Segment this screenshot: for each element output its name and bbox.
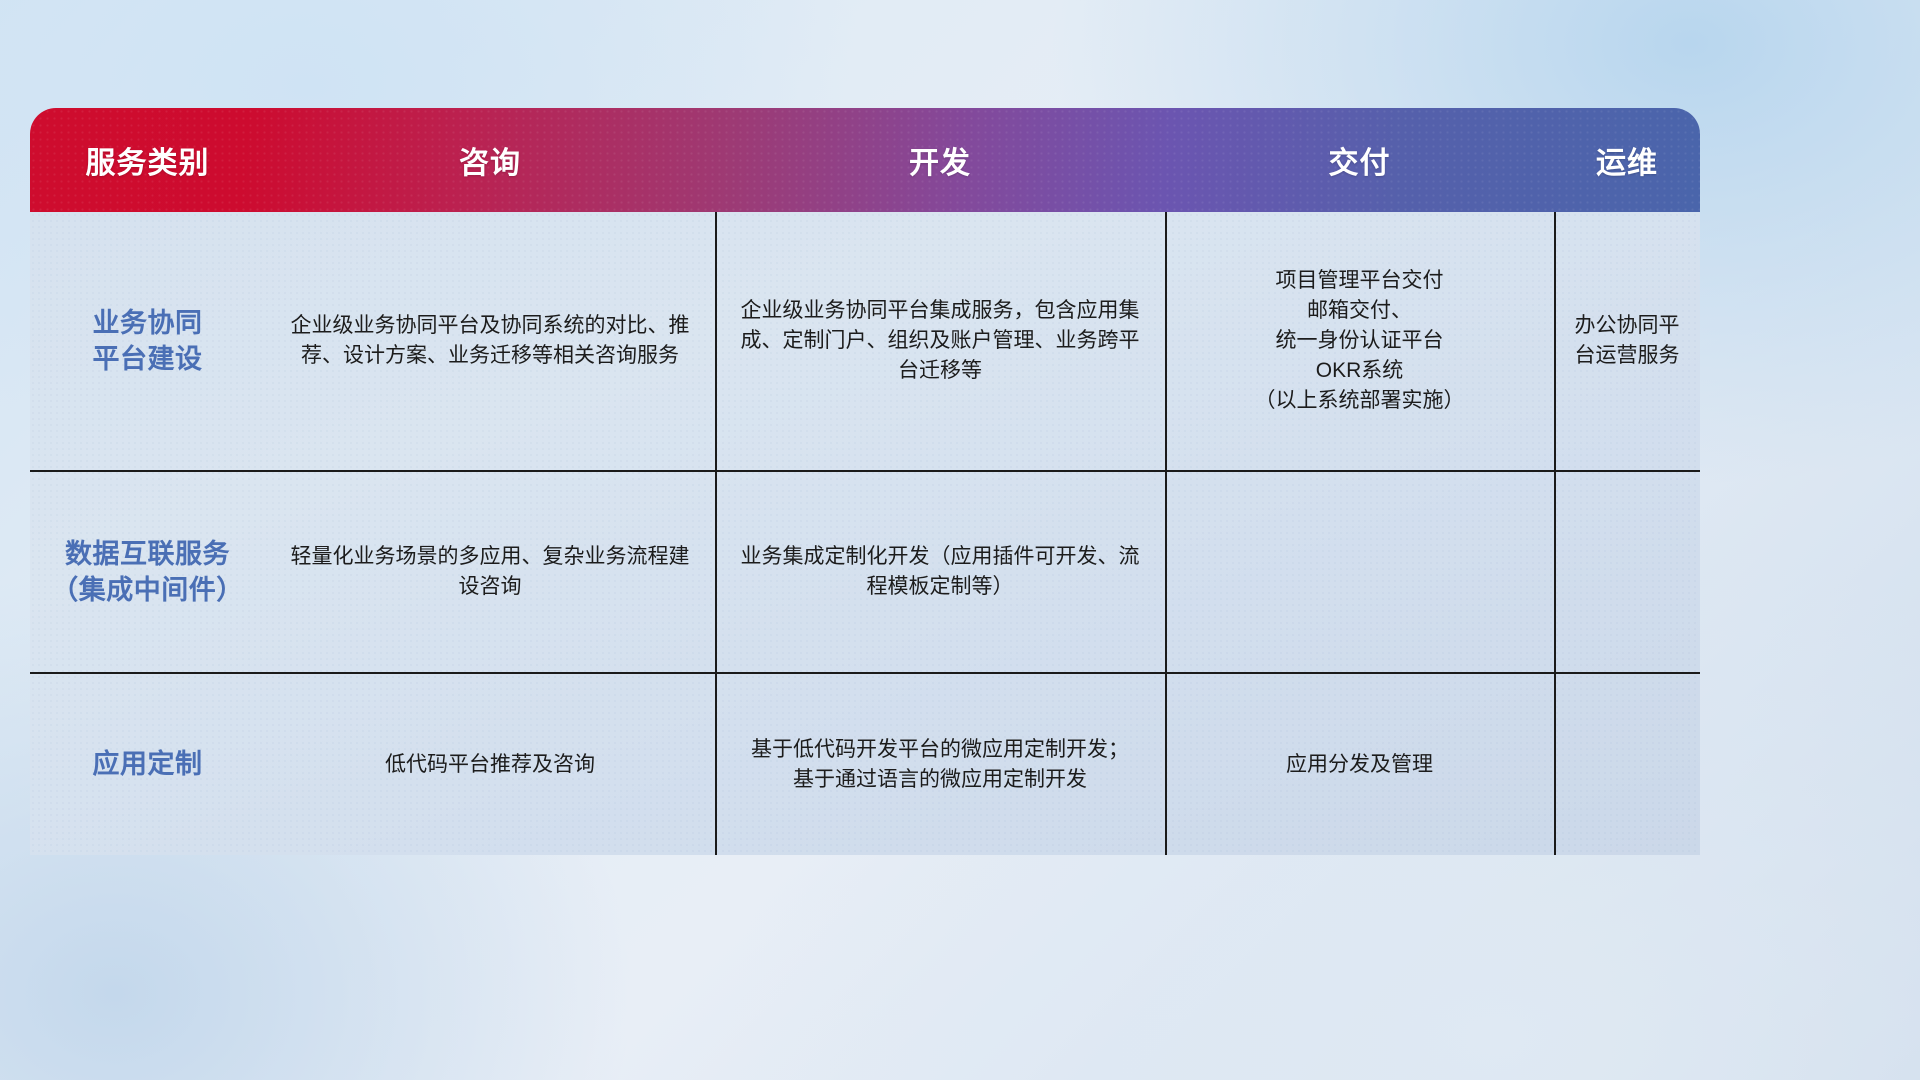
cell-r3-consulting: 低代码平台推荐及咨询 [265,674,715,855]
cell-r2-delivery [1165,472,1554,672]
row-label-data-interconnect: 数据互联服务 （集成中间件） [30,472,265,672]
column-header-development: 开发 [715,138,1165,182]
column-header-operations: 运维 [1554,138,1700,182]
cell-line: 基于通过语言的微应用定制开发 [751,765,1129,795]
row-label-app-customization: 应用定制 [30,674,265,855]
cell-r1-consulting: 企业级业务协同平台及协同系统的对比、推荐、设计方案、业务迁移等相关咨询服务 [265,212,715,470]
cell-line: （以上系统部署实施） [1255,386,1465,416]
table-row: 应用定制 低代码平台推荐及咨询 基于低代码开发平台的微应用定制开发； 基于通过语… [30,674,1700,855]
cell-r2-consulting: 轻量化业务场景的多应用、复杂业务流程建设咨询 [265,472,715,672]
row-label-line: 数据互联服务 [51,536,244,572]
row-label-business-collaboration: 业务协同 平台建设 [30,212,265,470]
cell-r3-delivery: 应用分发及管理 [1165,674,1554,855]
table-header-row: 服务类别 咨询 开发 交付 运维 [30,108,1700,212]
cell-line: 统一身份认证平台 [1255,326,1465,356]
cell-r2-operations [1554,472,1700,672]
row-label-line: 平台建设 [93,341,203,377]
table-body: 业务协同 平台建设 企业级业务协同平台及协同系统的对比、推荐、设计方案、业务迁移… [30,212,1700,855]
cell-line: 基于低代码开发平台的微应用定制开发； [751,735,1129,765]
cell-line: 项目管理平台交付 [1255,266,1465,296]
row-label-line: 应用定制 [93,746,203,782]
column-header-delivery: 交付 [1165,138,1554,182]
table-row: 数据互联服务 （集成中间件） 轻量化业务场景的多应用、复杂业务流程建设咨询 业务… [30,472,1700,674]
cell-r1-operations: 办公协同平台运营服务 [1554,212,1700,470]
service-matrix-table: 服务类别 咨询 开发 交付 运维 业务协同 平台建设 企业级业务协同平台及协同系… [30,108,1700,855]
column-header-category: 服务类别 [30,138,265,182]
table-row: 业务协同 平台建设 企业级业务协同平台及协同系统的对比、推荐、设计方案、业务迁移… [30,212,1700,472]
cell-r1-delivery: 项目管理平台交付 邮箱交付、 统一身份认证平台 OKR系统 （以上系统部署实施） [1165,212,1554,470]
row-label-line: （集成中间件） [51,572,244,608]
cell-r3-operations [1554,674,1700,855]
cell-line: 邮箱交付、 [1255,296,1465,326]
cell-line: OKR系统 [1255,356,1465,386]
cell-r3-development: 基于低代码开发平台的微应用定制开发； 基于通过语言的微应用定制开发 [715,674,1165,855]
row-label-line: 业务协同 [93,305,203,341]
cell-r1-development: 企业级业务协同平台集成服务，包含应用集成、定制门户、组织及账户管理、业务跨平台迁… [715,212,1165,470]
cell-r2-development: 业务集成定制化开发（应用插件可开发、流程模板定制等） [715,472,1165,672]
column-header-consulting: 咨询 [265,138,715,182]
